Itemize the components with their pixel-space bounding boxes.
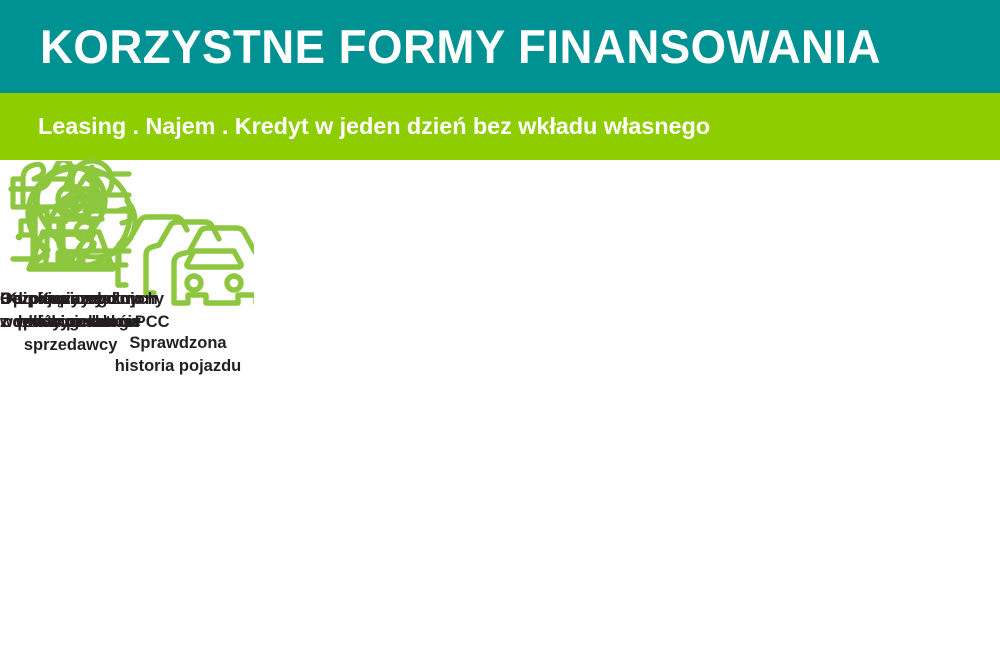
feature-caption: Kupujący zwolniony z opłaty podatku PCC xyxy=(0,288,170,334)
headline-band: KORZYSTNE FORMY FINANSOWANIA xyxy=(0,0,1000,93)
subheadline-band: Leasing . Najem . Kredyt w jeden dzień b… xyxy=(0,93,1000,160)
feature-grid: Sprawdzona historia pojazdu Kupiony w po… xyxy=(0,160,1000,654)
feature-item-kupujacy-zwolniony-pcc: Kupujący zwolniony z opłaty podatku PCC xyxy=(0,160,170,334)
page-subtitle: Leasing . Najem . Kredyt w jeden dzień b… xyxy=(38,113,710,140)
piggy-bank-icon xyxy=(22,159,148,280)
page-title: KORZYSTNE FORMY FINANSOWANIA xyxy=(40,19,881,74)
icon-container xyxy=(0,160,170,278)
